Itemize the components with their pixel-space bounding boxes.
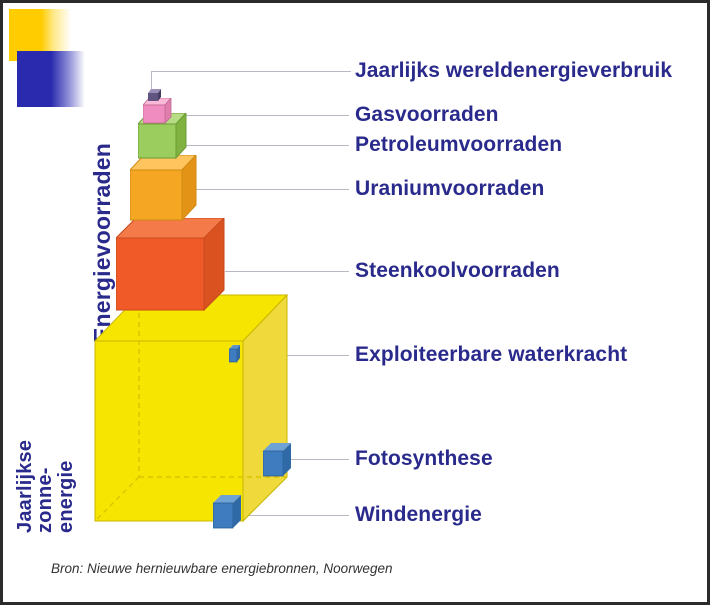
cube-steenkoolvoorraden <box>116 218 228 323</box>
leader-line-fotosynthese <box>289 459 349 460</box>
cube-fotosynthese <box>263 443 293 479</box>
source-note: Bron: Nieuwe hernieuwbare energiebronnen… <box>51 561 392 576</box>
diagram-canvas: Energievoorraden Jaarlijkse zonne- energ… <box>0 0 710 605</box>
label-jaarlijks-wereldenergieverbruik: Jaarlijks wereldenergieverbruik <box>355 59 672 83</box>
leader-line-wereldenergieverbruik <box>151 71 351 72</box>
cube-windenergie <box>213 495 243 531</box>
leader-line-steenkoolvoorraden <box>225 271 349 272</box>
leader-line-petroleumvoorraden <box>175 145 349 146</box>
cube-jaarlijkse-zonne-energie <box>91 291 291 526</box>
label-steenkoolvoorraden: Steenkoolvoorraden <box>355 259 560 283</box>
cube-jaarlijks-wereldenergieverbruik <box>148 89 164 103</box>
label-petroleumvoorraden: Petroleumvoorraden <box>355 133 562 157</box>
label-exploiteerbare-waterkracht: Exploiteerbare waterkracht <box>355 343 627 367</box>
label-windenergie: Windenergie <box>355 503 482 527</box>
leader-line-uraniumvoorraden <box>195 189 349 190</box>
label-fotosynthese: Fotosynthese <box>355 447 493 471</box>
leader-line-gasvoorraden <box>171 115 349 116</box>
label-gasvoorraden: Gasvoorraden <box>355 103 499 127</box>
label-uraniumvoorraden: Uraniumvoorraden <box>355 177 544 201</box>
axis-label-jaarlijkse-zonne-energie: Jaarlijkse zonne- energie <box>15 440 76 533</box>
cube-exploiteerbare-waterkracht <box>229 345 241 363</box>
logo-blue-square <box>17 51 85 107</box>
cube-uraniumvoorraden <box>130 155 200 227</box>
